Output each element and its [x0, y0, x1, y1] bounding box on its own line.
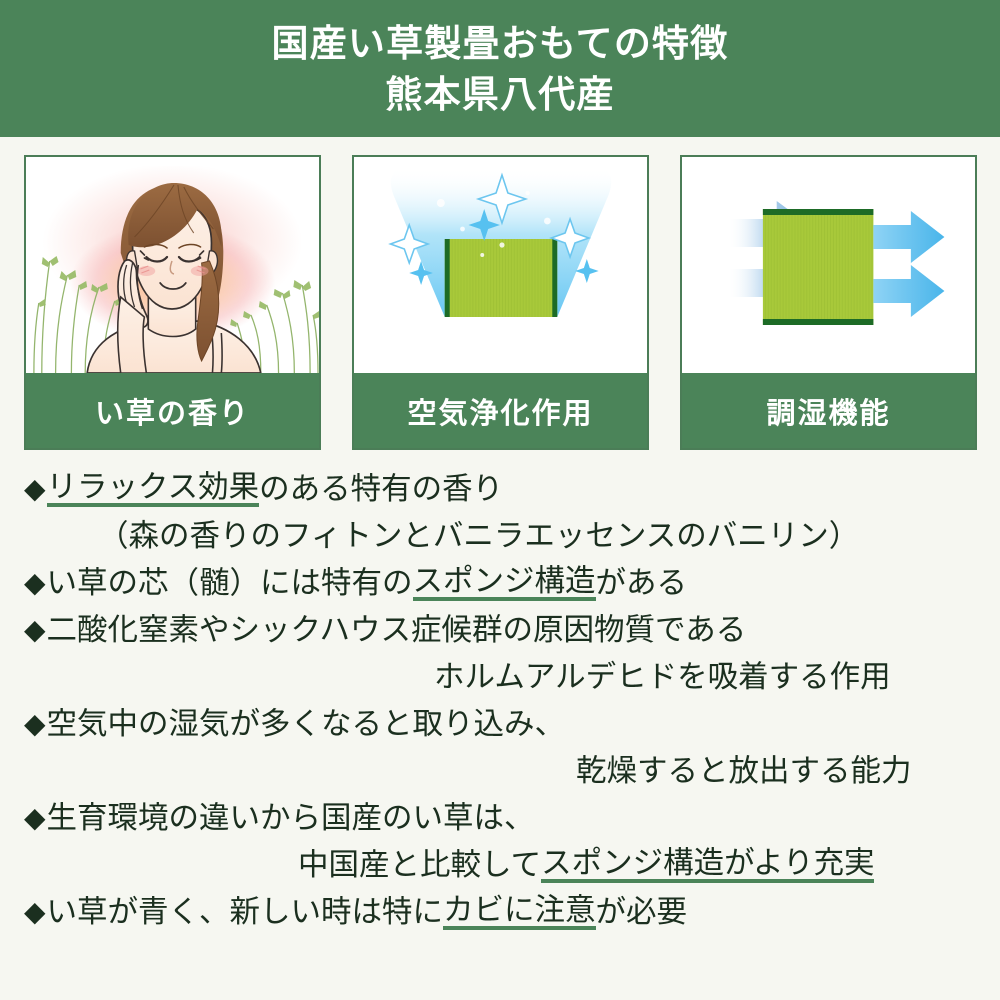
bullet-diamond-icon: ◆ — [24, 617, 46, 645]
bullet-keyword-underlined: カビに注意 — [443, 895, 596, 931]
bullet-diamond-icon: ◆ — [24, 711, 46, 739]
bullet-diamond-icon: ◆ — [24, 570, 46, 598]
feature-card-row: い草の香り — [24, 155, 977, 450]
card-label-air-purification: 空気浄化作用 — [354, 373, 647, 448]
bullet-keyword-underlined: スポンジ構造がより充実 — [541, 848, 874, 884]
bullet-diamond-icon: ◆ — [24, 476, 46, 504]
bullet-text: 乾燥すると放出する能力 — [576, 756, 912, 787]
page-title-line-1: 国産い草製畳おもての特徴 — [272, 19, 729, 69]
bullet-line: ◆二酸化窒素やシックハウス症候群の原因物質である — [24, 607, 982, 654]
bullet-line: 中国産と比較してスポンジ構造がより充実 — [24, 842, 982, 889]
bullet-line: （森の香りのフィトンとバニラエッセンスのバニリン） — [24, 513, 982, 560]
bullet-line: ◆い草が青く、新しい時は特にカビに注意が必要 — [24, 889, 982, 936]
bullet-line: ◆空気中の湿気が多くなると取り込み、 — [24, 701, 982, 748]
bullet-text: （森の香りのフィトンとバニラエッセンスのバニリン） — [98, 521, 859, 552]
bullet-text: ホルムアルデヒドを吸着する作用 — [434, 662, 891, 693]
bullet-line: 乾燥すると放出する能力 — [24, 748, 982, 795]
humidity-control-illustration — [682, 157, 975, 373]
bullet-text: 二酸化窒素やシックハウス症候群の原因物質である — [47, 615, 747, 646]
woman-smelling-rush-grass-icon — [26, 157, 319, 373]
feature-card-humidity-control[interactable]: 調湿機能 — [680, 155, 977, 450]
bullet-diamond-icon: ◆ — [24, 899, 46, 927]
bullet-line: ◆リラックス効果のある特有の香り — [24, 466, 982, 513]
bullet-keyword-underlined: スポンジ構造 — [413, 566, 596, 602]
air-purification-illustration — [354, 157, 647, 373]
page-subtitle-line-2: 熊本県八代産 — [385, 70, 614, 120]
tatami-humidity-arrows-icon — [682, 157, 975, 373]
bullet-line: ◆生育環境の違いから国産のい草は、 — [24, 795, 982, 842]
card-label-fragrance: い草の香り — [26, 373, 319, 448]
tatami-air-sparkle-icon — [354, 157, 647, 373]
bullet-text: 中国産と比較して — [298, 850, 541, 881]
bullet-line: ホルムアルデヒドを吸着する作用 — [24, 654, 982, 701]
bullet-text: い草が青く、新しい時は特に — [47, 897, 444, 928]
bullet-text: 生育環境の違いから国産のい草は、 — [47, 803, 535, 834]
feature-card-fragrance[interactable]: い草の香り — [24, 155, 321, 450]
bullet-text: 空気中の湿気が多くなると取り込み、 — [47, 709, 566, 740]
bullet-text: が必要 — [596, 897, 688, 928]
page-header: 国産い草製畳おもての特徴 熊本県八代産 — [0, 0, 1000, 137]
feature-bullet-list: ◆リラックス効果のある特有の香り（森の香りのフィトンとバニラエッセンスのバニリン… — [24, 466, 982, 936]
bullet-text: い草の芯（髄）には特有の — [47, 568, 413, 599]
bullet-keyword-underlined: リラックス効果 — [47, 472, 260, 508]
bullet-line: ◆い草の芯（髄）には特有のスポンジ構造がある — [24, 560, 982, 607]
bullet-diamond-icon: ◆ — [24, 805, 46, 833]
bullet-text: のある特有の香り — [259, 474, 503, 505]
card-label-humidity-control: 調湿機能 — [682, 373, 975, 448]
feature-card-air-purification[interactable]: 空気浄化作用 — [352, 155, 649, 450]
fragrance-illustration — [26, 157, 319, 373]
bullet-text: がある — [596, 568, 688, 599]
